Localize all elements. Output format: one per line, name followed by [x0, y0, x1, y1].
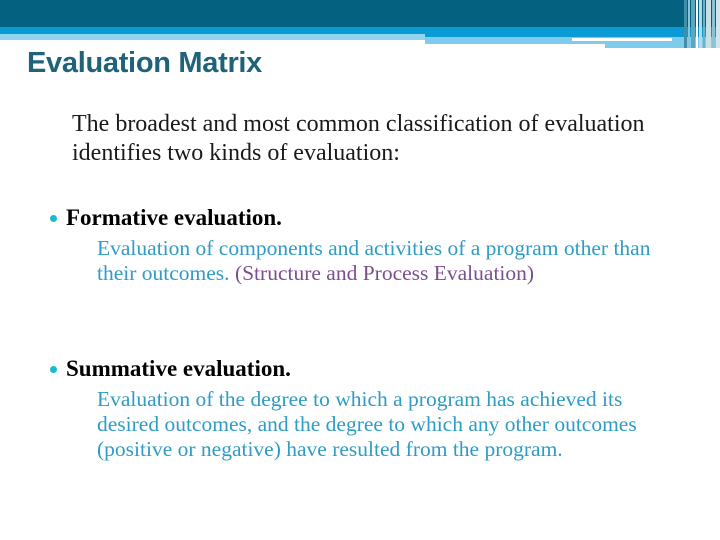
bullet-heading-formative: Formative evaluation.: [66, 204, 282, 231]
banner-vstripe-6: [703, 0, 705, 48]
banner-vstripe-9: [716, 0, 720, 48]
banner-vstripe-8: [712, 0, 715, 48]
bullet-body-formative: Evaluation of components and activities …: [97, 236, 687, 286]
banner-vstripe-1: [684, 0, 687, 48]
banner-vstripe-4: [696, 0, 698, 48]
banner-band-dark: [0, 0, 720, 27]
intro-paragraph: The broadest and most common classificat…: [72, 110, 687, 168]
banner-vstripe-5: [699, 0, 702, 48]
banner-band-bright-left: [0, 27, 425, 34]
bullet-heading-summative: Summative evaluation.: [66, 355, 291, 382]
bullet-body-formative-secondary: (Structure and Process Evaluation): [235, 261, 534, 285]
bullet-block-formative: Formative evaluation. Evaluation of comp…: [50, 204, 700, 286]
bullet-body-summative-primary: Evaluation of the degree to which a prog…: [97, 387, 637, 461]
bullet-block-summative: Summative evaluation. Evaluation of the …: [50, 355, 700, 462]
slide-title: Evaluation Matrix: [27, 47, 262, 80]
slide-header-banner: [0, 0, 720, 48]
bullet-body-summative: Evaluation of the degree to which a prog…: [97, 387, 687, 462]
bullet-heading-row: Formative evaluation.: [50, 204, 700, 231]
banner-step-white-right: [425, 44, 605, 48]
banner-gap-white: [572, 38, 672, 41]
slide: Evaluation Matrix The broadest and most …: [0, 0, 720, 540]
banner-vstripe-7: [706, 0, 711, 48]
banner-vstripe-2: [688, 0, 690, 48]
bullet-dot-icon: [50, 366, 57, 373]
banner-band-bright-right: [425, 27, 720, 37]
bullet-heading-row: Summative evaluation.: [50, 355, 700, 382]
banner-vstripe-3: [691, 0, 695, 48]
bullet-dot-icon: [50, 215, 57, 222]
